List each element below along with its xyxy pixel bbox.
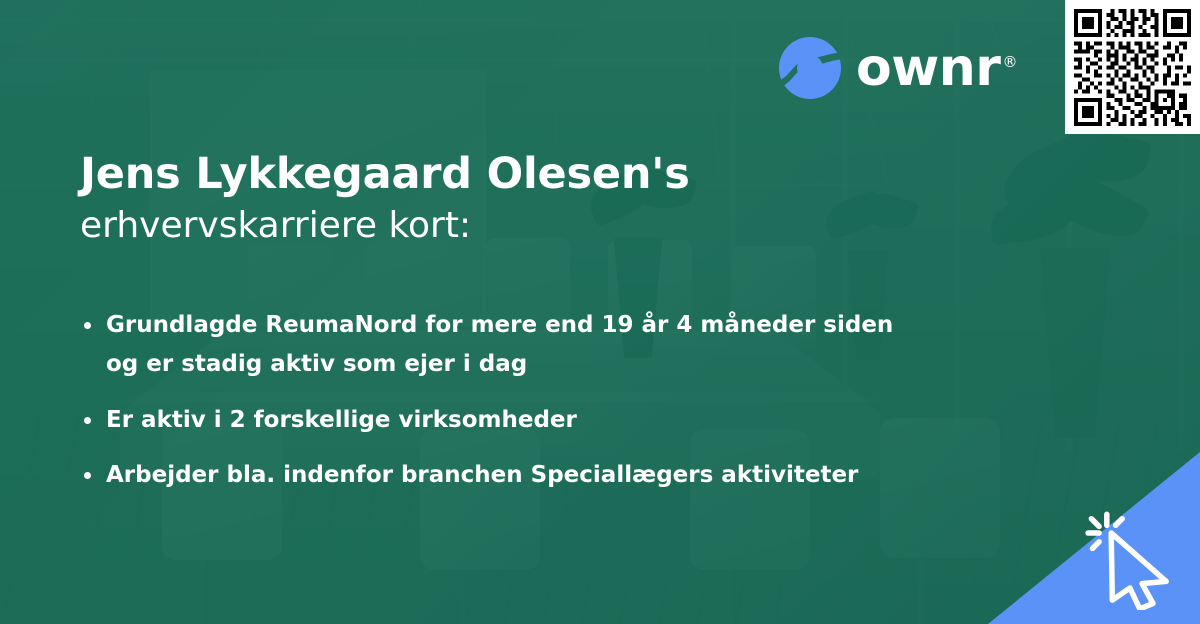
bullet-icon: [84, 472, 91, 479]
qr-code-panel[interactable]: [1065, 0, 1200, 134]
page-title: Jens Lykkegaard Olesen's: [80, 150, 980, 200]
click-cursor-icon: [1076, 500, 1186, 610]
registered-trademark-icon: ®: [1002, 53, 1017, 71]
list-item: Er aktiv i 2 forskellige virksomheder: [80, 401, 906, 441]
ownr-circle-swoosh-logo-icon: [778, 36, 842, 100]
list-item-label: Grundlagde ReumaNord for mere end 19 år …: [106, 312, 893, 378]
business-career-card: ownr®: [0, 0, 1200, 624]
list-item: Arbejder bla. indenfor branchen Speciall…: [80, 456, 906, 496]
bullet-icon: [84, 417, 91, 424]
card-content: Jens Lykkegaard Olesen's erhvervskarrier…: [80, 150, 980, 496]
ownr-wordmark: ownr®: [856, 42, 1017, 94]
career-facts-list: Grundlagde ReumaNord for mere end 19 år …: [80, 306, 980, 496]
qr-code-icon: [1074, 9, 1191, 126]
ownr-wordmark-text: ownr: [856, 38, 1000, 98]
page-subtitle: erhvervskarriere kort:: [80, 204, 980, 248]
list-item-label: Er aktiv i 2 forskellige virksomheder: [106, 407, 577, 433]
list-item-label: Arbejder bla. indenfor branchen Speciall…: [106, 462, 858, 488]
bullet-icon: [84, 322, 91, 329]
ownr-logo[interactable]: ownr®: [778, 36, 1017, 100]
list-item: Grundlagde ReumaNord for mere end 19 år …: [80, 306, 906, 385]
